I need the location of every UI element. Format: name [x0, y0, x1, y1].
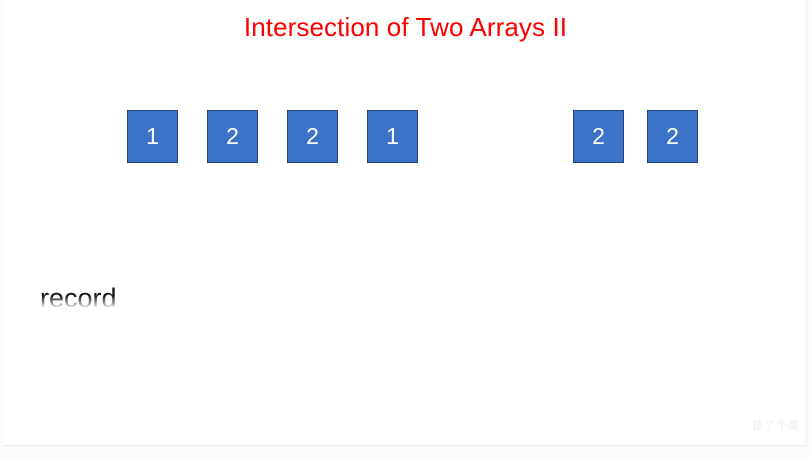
- record-annotation-label: record: [40, 283, 117, 313]
- slide-canvas: Intersection of Two Arrays II 1 2 2 1 2 …: [4, 0, 807, 446]
- page-title: Intersection of Two Arrays II: [4, 11, 807, 43]
- record-annotation: record: [40, 283, 240, 313]
- watermark: 菝了个菜: [752, 417, 800, 433]
- array-nums2: 2 2: [573, 110, 698, 163]
- array-cell[interactable]: 2: [647, 110, 698, 163]
- array-cell[interactable]: 2: [207, 110, 258, 163]
- array-cell[interactable]: 2: [287, 110, 338, 163]
- array-nums1: 1 2 2 1: [127, 110, 418, 163]
- slide-frame: Intersection of Two Arrays II 1 2 2 1 2 …: [0, 0, 810, 458]
- array-cell[interactable]: 1: [367, 110, 418, 163]
- array-cell[interactable]: 1: [127, 110, 178, 163]
- array-cell[interactable]: 2: [573, 110, 624, 163]
